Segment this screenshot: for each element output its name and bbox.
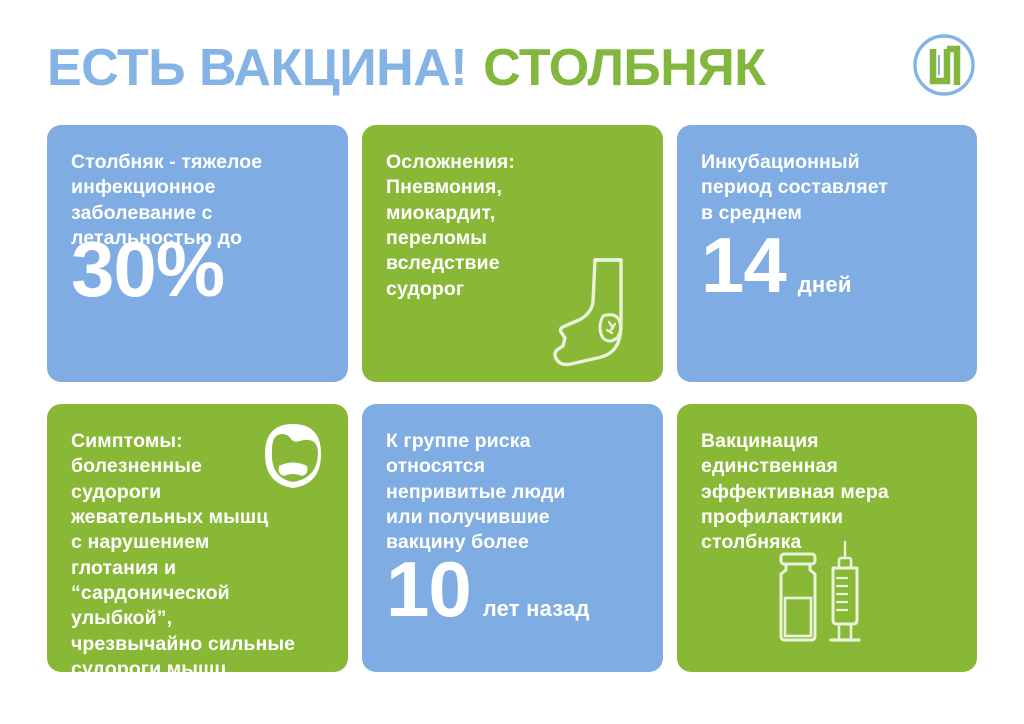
infographic-poster: ЕСТЬ ВАКЦИНА! СТОЛБНЯК Столбняк - тяжело… bbox=[0, 0, 1024, 724]
title-part-vaccine-available: ЕСТЬ ВАКЦИНА! bbox=[47, 42, 467, 94]
card-complications: Осложнения: Пневмония, миокардит, перело… bbox=[362, 125, 663, 382]
card-risk-text: К группе риска относятся непривитые люди… bbox=[386, 429, 639, 556]
card-prevention-text: Вакцинация единственная эффективная мера… bbox=[701, 429, 953, 556]
title-part-tetanus: СТОЛБНЯК bbox=[483, 42, 765, 94]
fact-card-grid: Столбняк - тяжелое инфекционное заболева… bbox=[47, 125, 977, 672]
card-prevention: Вакцинация единственная эффективная мера… bbox=[677, 404, 977, 672]
card-lethality: Столбняк - тяжелое инфекционное заболева… bbox=[47, 125, 348, 382]
stat-unit-risk: лет назад bbox=[483, 596, 590, 622]
card-symptoms: Симптомы: болезненные судороги жевательн… bbox=[47, 404, 348, 672]
stat-number-risk: 10 bbox=[386, 554, 471, 624]
page-title: ЕСТЬ ВАКЦИНА! СТОЛБНЯК bbox=[47, 42, 977, 94]
stat-number-lethality: 30% bbox=[71, 234, 224, 304]
card-incubation-period: Инкубационный период составляет в средне… bbox=[677, 125, 977, 382]
card-symptoms-text: Симптомы: болезненные судороги жевательн… bbox=[71, 429, 324, 672]
clinic-monogram-logo bbox=[911, 32, 977, 98]
stat-number-incubation: 14 bbox=[701, 230, 786, 300]
poster-header: ЕСТЬ ВАКЦИНА! СТОЛБНЯК bbox=[47, 28, 977, 108]
stat-unit-incubation: дней bbox=[798, 272, 852, 298]
card-lethality-stat: 30% bbox=[71, 234, 224, 304]
card-risk-stat: 10 лет назад bbox=[386, 554, 590, 624]
card-complications-text: Осложнения: Пневмония, миокардит, перело… bbox=[386, 150, 592, 302]
card-incubation-stat: 14 дней bbox=[701, 230, 852, 300]
card-incubation-text: Инкубационный период составляет в средне… bbox=[701, 150, 953, 226]
card-risk-group: К группе риска относятся непривитые люди… bbox=[362, 404, 663, 672]
